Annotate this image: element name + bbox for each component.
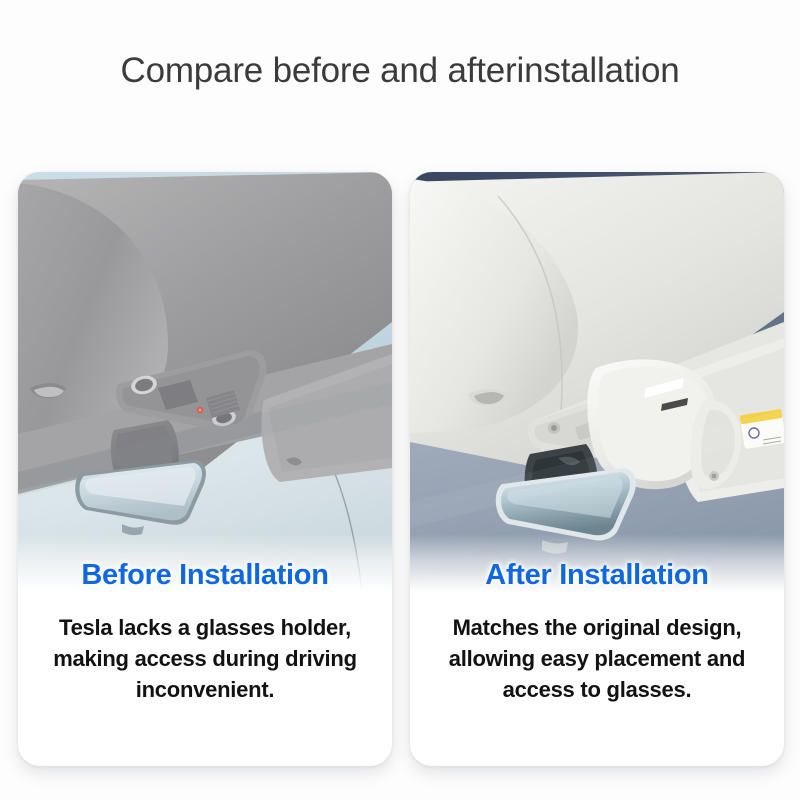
- after-caption-line-1: Matches the original design,: [426, 612, 768, 643]
- before-photo: [18, 172, 392, 592]
- comparison-cards: Before Installation Tesla lacks a glasse…: [18, 172, 784, 766]
- after-installation-label: After Installation: [410, 558, 784, 592]
- before-caption-line-1: Tesla lacks a glasses holder,: [34, 612, 376, 643]
- card-after-installation[interactable]: After Installation Matches the original …: [410, 172, 784, 766]
- before-installation-label: Before Installation: [18, 558, 392, 592]
- before-caption-line-3: inconvenient.: [34, 674, 376, 705]
- card-before-installation[interactable]: Before Installation Tesla lacks a glasse…: [18, 172, 392, 766]
- after-caption-line-2: allowing easy placement and: [426, 643, 768, 674]
- after-photo: [410, 172, 784, 592]
- after-caption: Matches the original design, allowing ea…: [426, 612, 768, 705]
- after-caption-line-3: access to glasses.: [426, 674, 768, 705]
- page-title: Compare before and afterinstallation: [0, 48, 800, 94]
- before-caption: Tesla lacks a glasses holder, making acc…: [34, 612, 376, 705]
- comparison-page: Compare before and afterinstallation: [0, 0, 800, 800]
- before-caption-line-2: making access during driving: [34, 643, 376, 674]
- before-photo-illustration: [18, 172, 392, 592]
- after-photo-illustration: [410, 172, 784, 592]
